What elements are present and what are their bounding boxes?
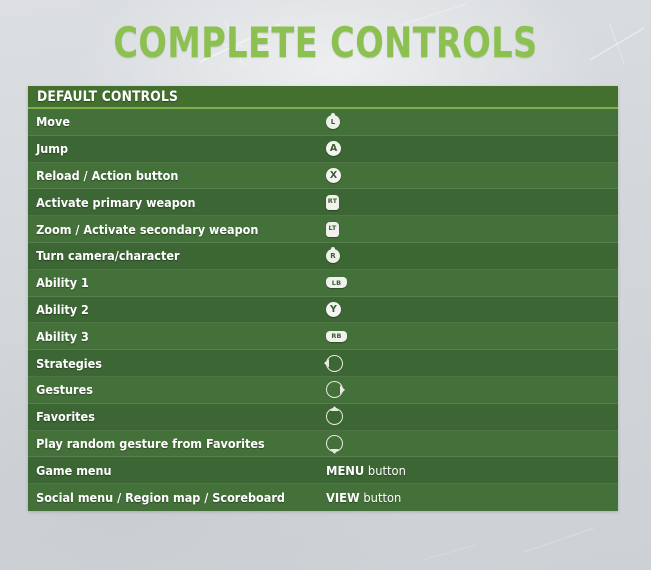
table-row: Play random gesture from Favorites: [28, 431, 618, 458]
table-row: Ability 3RB: [28, 323, 618, 350]
control-action-label: Ability 3: [28, 329, 306, 344]
a-button-icon: A: [326, 141, 341, 156]
x-button-icon: X: [326, 168, 341, 183]
left-bumper-icon: LB: [326, 277, 347, 288]
control-binding-label: VIEW button: [326, 490, 401, 505]
table-row: MoveL: [28, 109, 618, 136]
control-action-label: Move: [28, 114, 306, 129]
table-row: Gestures: [28, 377, 618, 404]
control-binding: X: [326, 163, 341, 189]
binding-button-name: MENU: [326, 463, 364, 478]
control-binding: RT: [326, 189, 339, 215]
right-trigger-icon: RT: [326, 195, 339, 210]
control-binding: VIEW button: [326, 484, 408, 511]
control-action-label: Favorites: [28, 409, 306, 424]
control-binding: MENU button: [326, 457, 413, 483]
controls-table: DEFAULT CONTROLS MoveLJumpAReload / Acti…: [28, 86, 618, 511]
dpad-right-icon: [326, 381, 343, 398]
control-binding: [326, 404, 343, 430]
table-header-label: DEFAULT CONTROLS: [37, 89, 178, 105]
control-action-label: Social menu / Region map / Scoreboard: [28, 490, 306, 505]
table-header: DEFAULT CONTROLS: [28, 86, 618, 109]
control-binding: [326, 431, 343, 457]
table-row: Game menuMENU button: [28, 457, 618, 484]
page-title: COMPLETE CONTROLS: [65, 20, 586, 66]
table-row: Social menu / Region map / ScoreboardVIE…: [28, 484, 618, 511]
dpad-up-icon: [326, 408, 343, 425]
control-binding: R: [326, 243, 340, 269]
control-action-label: Turn camera/character: [28, 248, 306, 263]
table-row: JumpA: [28, 136, 618, 163]
left-trigger-icon: LT: [326, 222, 339, 237]
table-row: Strategies: [28, 350, 618, 377]
control-binding-label: MENU button: [326, 463, 406, 478]
table-row: Ability 1LB: [28, 270, 618, 297]
left-stick-icon: L: [326, 115, 340, 129]
table-body: MoveLJumpAReload / Action buttonXActivat…: [28, 109, 618, 511]
control-binding: [326, 350, 343, 376]
table-row: Reload / Action buttonX: [28, 163, 618, 190]
binding-button-name: VIEW: [326, 490, 360, 505]
control-binding: L: [326, 109, 340, 135]
table-row: Turn camera/characterR: [28, 243, 618, 270]
table-row: Zoom / Activate secondary weaponLT: [28, 216, 618, 243]
control-action-label: Jump: [28, 141, 306, 156]
control-action-label: Reload / Action button: [28, 168, 306, 183]
table-row: Ability 2Y: [28, 297, 618, 324]
control-action-label: Zoom / Activate secondary weapon: [28, 222, 306, 237]
control-action-label: Ability 1: [28, 275, 306, 290]
control-binding: A: [326, 136, 341, 162]
dpad-down-icon: [326, 435, 343, 452]
right-bumper-icon: RB: [326, 331, 347, 342]
control-binding: [326, 377, 343, 403]
control-action-label: Play random gesture from Favorites: [28, 436, 306, 451]
binding-button-suffix: button: [360, 490, 402, 505]
y-button-icon: Y: [326, 302, 341, 317]
table-row: Activate primary weaponRT: [28, 189, 618, 216]
control-binding: LT: [326, 216, 339, 242]
dpad-left-icon: [326, 355, 343, 372]
control-action-label: Gestures: [28, 382, 306, 397]
control-binding: Y: [326, 297, 341, 323]
binding-button-suffix: button: [364, 463, 406, 478]
control-action-label: Ability 2: [28, 302, 306, 317]
control-action-label: Activate primary weapon: [28, 195, 306, 210]
control-action-label: Strategies: [28, 356, 306, 371]
right-stick-icon: R: [326, 249, 340, 263]
control-binding: RB: [326, 323, 347, 349]
table-row: Favorites: [28, 404, 618, 431]
control-action-label: Game menu: [28, 463, 306, 478]
control-binding: LB: [326, 270, 347, 296]
